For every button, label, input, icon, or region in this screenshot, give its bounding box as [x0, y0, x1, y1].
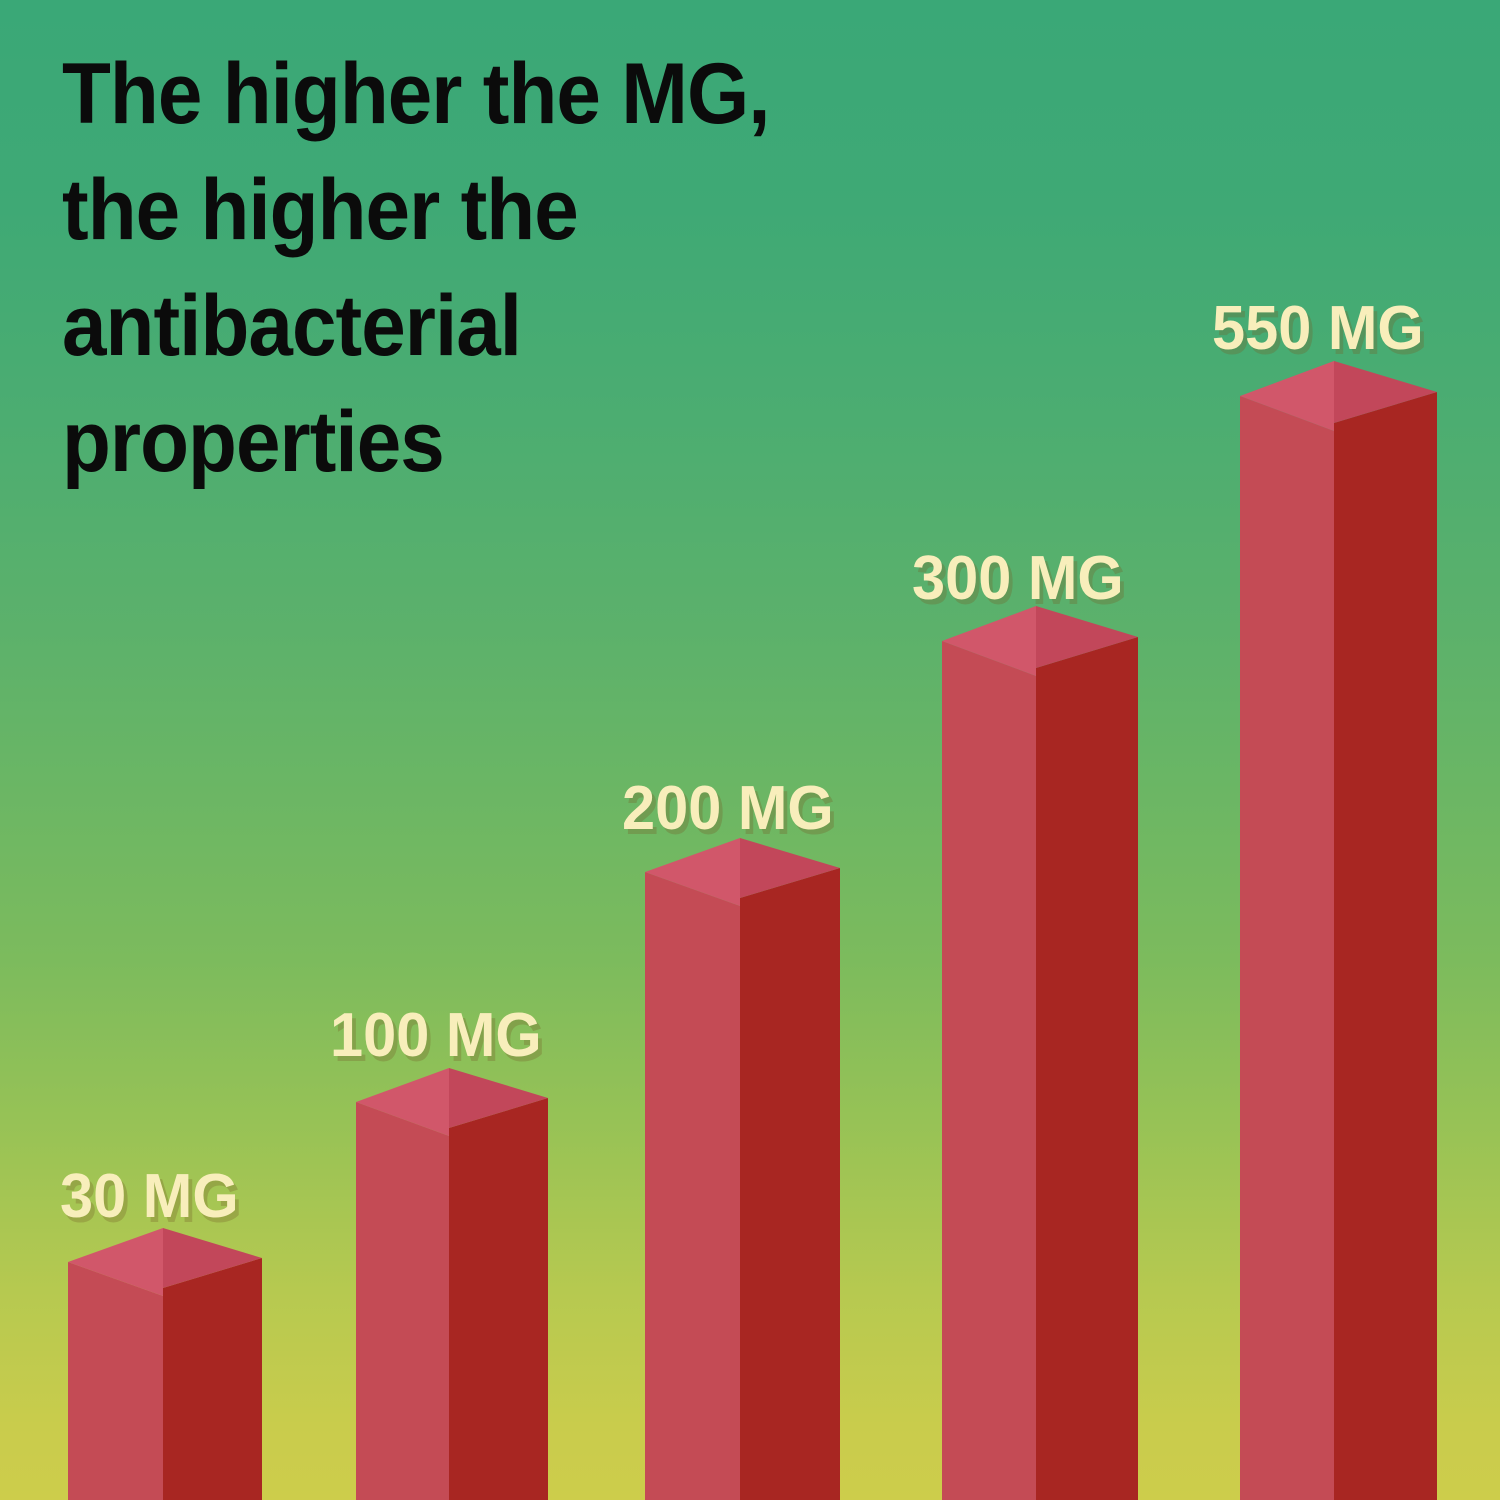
infographic-poster: The higher the MG, the higher the antiba… [0, 0, 1500, 1500]
bar-face-right [1036, 637, 1138, 1500]
bar-column[interactable] [942, 606, 1138, 1500]
bar-face-left [1240, 396, 1334, 1500]
bar-face-left [942, 641, 1036, 1500]
bar-face-left [645, 872, 740, 1500]
bar-value-label: 100 MG [330, 1005, 542, 1067]
bar-value-label: 300 MG [912, 548, 1124, 610]
bars-group [68, 361, 1437, 1500]
bar-chart [0, 0, 1500, 1500]
bar-value-label: 200 MG [622, 778, 834, 840]
bar-face-right [740, 868, 840, 1500]
bar-face-right [163, 1258, 262, 1500]
bar-column[interactable] [645, 838, 840, 1500]
bar-face-right [1334, 392, 1437, 1500]
bar-column[interactable] [1240, 361, 1437, 1500]
bar-face-left [68, 1262, 163, 1500]
bar-face-left [356, 1102, 449, 1500]
bar-column[interactable] [356, 1068, 548, 1500]
bar-value-label: 550 MG [1212, 298, 1424, 360]
bar-face-right [449, 1098, 548, 1500]
bar-column[interactable] [68, 1228, 262, 1500]
bar-value-label: 30 MG [60, 1166, 239, 1228]
